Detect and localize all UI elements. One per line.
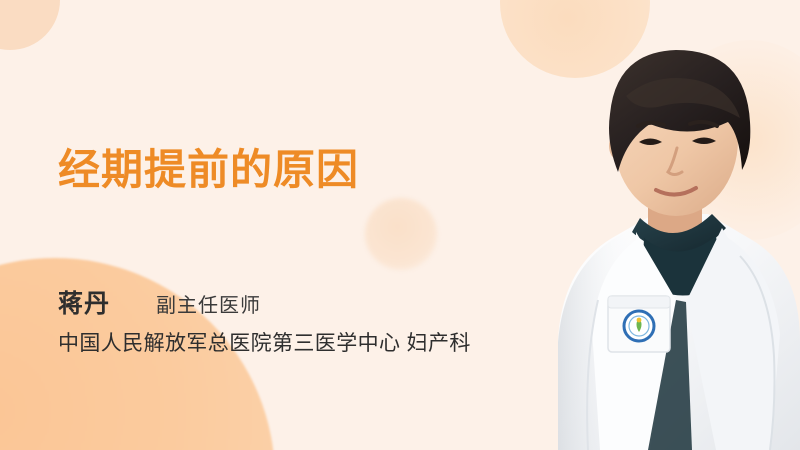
doctor-affiliation: 中国人民解放军总医院第三医学中心 妇产科 — [58, 327, 471, 357]
text-block: 经期提前的原因 蒋丹副主任医师 中国人民解放军总医院第三医学中心 妇产科 — [0, 0, 560, 450]
doctor-rank: 副主任医师 — [156, 289, 261, 318]
hospital-emblem-badge — [624, 311, 654, 341]
video-cover-card: 经期提前的原因 蒋丹副主任医师 中国人民解放军总医院第三医学中心 妇产科 — [0, 0, 800, 450]
byline: 蒋丹副主任医师 — [58, 284, 261, 320]
doctor-name: 蒋丹 — [58, 284, 110, 320]
coat-pocket-flap — [608, 296, 670, 308]
page-title: 经期提前的原因 — [58, 146, 359, 193]
